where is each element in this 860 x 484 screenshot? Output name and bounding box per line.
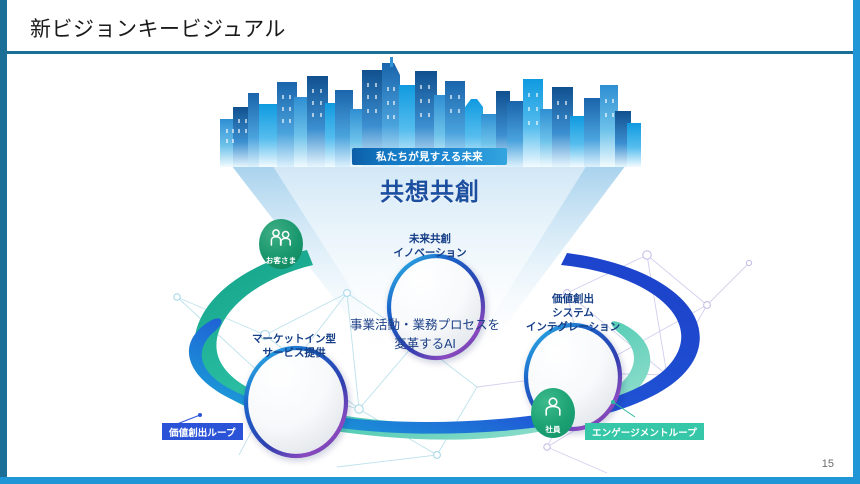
loop-tag-value-creation: 価値創出ループ — [162, 423, 243, 440]
future-banner-pill: 私たちが見すえる未来 — [352, 148, 507, 165]
badge-employee-label: 社員 — [545, 424, 560, 435]
circle-label-top-line1: 未来共創 — [375, 232, 485, 246]
circle-label-right: 価値創出 システム インテグレーション — [514, 292, 632, 335]
future-banner-text: 私たちが見すえる未来 — [376, 149, 483, 164]
slide-title-band: 新ビジョンキービジュアル — [7, 4, 853, 54]
badge-employee: 社員 — [531, 388, 575, 438]
circle-label-right-line1: 価値創出 — [514, 292, 632, 306]
circle-label-top-line2: イノベーション — [375, 246, 485, 260]
badge-customer-label: お客さま — [266, 255, 296, 266]
frame-left-accent-bar — [0, 0, 7, 484]
loop-tag-engagement: エンゲージメントループ — [585, 423, 704, 440]
keyvisual-canvas — [7, 57, 853, 477]
center-caption: 事業活動・業務プロセスを 変革するAI — [330, 316, 520, 355]
circle-label-right-line3: インテグレーション — [514, 320, 632, 334]
center-caption-line1: 事業活動・業務プロセスを — [330, 316, 520, 335]
page-number: 15 — [822, 458, 834, 470]
frame-bottom-accent-bar — [0, 477, 860, 484]
center-caption-line2: 変革するAI — [330, 335, 520, 354]
tag-leader-lines — [7, 57, 853, 477]
circle-label-right-line2: システム — [514, 306, 632, 320]
person-icon — [543, 388, 563, 424]
slide-root: 新ビジョンキービジュアル — [0, 0, 860, 484]
headline-kyosokyoso: 共想共創 — [0, 172, 860, 207]
two-people-icon — [269, 219, 293, 255]
badge-customer: お客さま — [259, 219, 303, 269]
page-title: 新ビジョンキービジュアル — [7, 13, 286, 43]
frame-right-accent-bar — [853, 0, 860, 484]
circle-label-top: 未来共創 イノベーション — [375, 232, 485, 260]
